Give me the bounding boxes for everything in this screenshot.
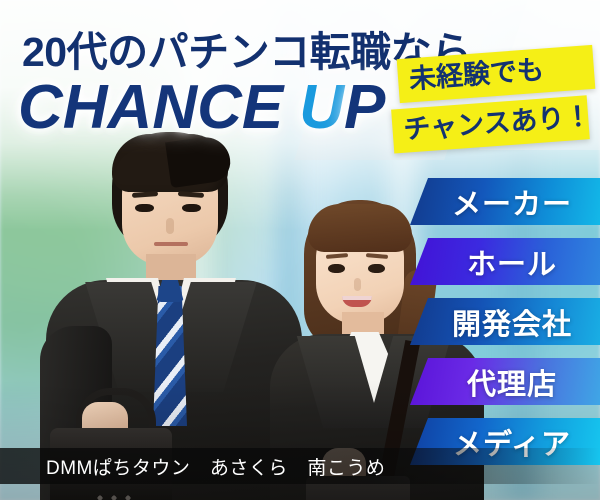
headline-line-2: CHANCEUP [18, 72, 385, 143]
category-button-development-company[interactable]: 開発会社 [410, 298, 600, 345]
caption-band: DMMぱちタウン あさくら 南こうめ [0, 448, 600, 484]
headline-chance-word: CHANCE [18, 73, 283, 142]
category-button-maker[interactable]: メーカー [410, 178, 600, 225]
male-eye-left [135, 204, 154, 212]
badge-line-1: 未経験でも [397, 45, 596, 103]
headline-up-p: P [344, 73, 385, 142]
category-label-hall: ホール [453, 241, 557, 283]
headline-up-u: U [299, 73, 344, 142]
female-nose [354, 278, 361, 291]
category-label-agency: 代理店 [453, 361, 557, 403]
category-button-agency[interactable]: 代理店 [410, 358, 600, 405]
category-label-development-company: 開発会社 [438, 301, 572, 343]
male-mouth [154, 242, 188, 246]
female-eye-right [368, 264, 385, 273]
briefcase-studs [94, 494, 134, 500]
female-eye-left [328, 264, 345, 273]
caption-credits-text: DMMぱちタウン あさくら 南こうめ [0, 453, 385, 480]
category-button-list: メーカー ホール 開発会社 代理店 メディア [410, 178, 600, 478]
male-eye-right [182, 204, 201, 212]
male-nose [166, 218, 174, 234]
category-label-maker: メーカー [438, 181, 572, 223]
male-striped-necktie [153, 286, 187, 426]
recruitment-banner[interactable]: 20代のパチンコ転職なら CHANCEUP 未経験でも チャンスあり！ メーカー… [0, 0, 600, 500]
category-button-hall[interactable]: ホール [410, 238, 600, 285]
female-bangs [308, 204, 412, 252]
inexperience-welcome-badge: 未経験でも チャンスあり！ [398, 52, 594, 140]
